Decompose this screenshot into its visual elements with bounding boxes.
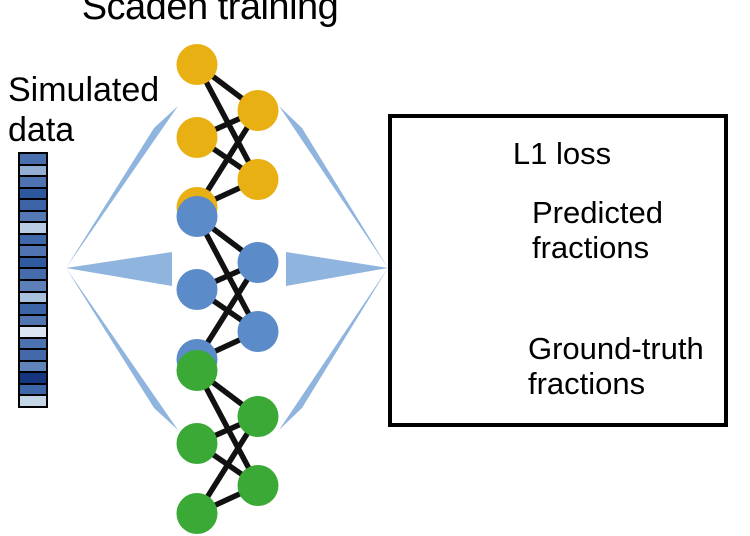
- scaden-training-figure: Scaden training Simulated data L1 loss P…: [0, 0, 750, 536]
- network-node: [177, 350, 218, 391]
- fan-in-arrows: [279, 106, 388, 430]
- network-node: [177, 269, 218, 310]
- network-node: [177, 196, 218, 237]
- predicted-fractions-label-line2: fractions: [532, 231, 663, 266]
- network-node: [238, 465, 279, 506]
- fan-in-arrow-2: [286, 252, 388, 286]
- network-node: [177, 423, 218, 464]
- fan-in-arrow-1: [279, 106, 388, 268]
- ground-truth-fractions-label: Ground-truth fractions: [528, 332, 704, 401]
- fan-out-arrows: [66, 106, 178, 430]
- network-node: [177, 493, 218, 534]
- fan-out-arrow-3: [66, 268, 178, 430]
- network-node: [177, 44, 218, 85]
- predicted-fractions-label-line1: Predicted: [532, 196, 663, 231]
- network-node: [238, 159, 279, 200]
- neural-network-stack: [177, 44, 279, 534]
- network-node: [238, 90, 279, 131]
- fan-out-arrow-2: [66, 252, 172, 286]
- model-network-green: [177, 350, 279, 534]
- ground-truth-fractions-label-line2: fractions: [528, 367, 704, 402]
- fan-in-arrow-3: [279, 268, 388, 430]
- fan-out-arrow-1: [66, 106, 178, 268]
- predicted-fractions-label: Predicted fractions: [532, 196, 663, 265]
- network-node: [238, 311, 279, 352]
- l1-loss-title: L1 loss: [392, 136, 732, 172]
- ground-truth-fractions-label-line1: Ground-truth: [528, 332, 704, 367]
- network-node: [238, 242, 279, 283]
- network-node: [238, 396, 279, 437]
- network-node: [177, 117, 218, 158]
